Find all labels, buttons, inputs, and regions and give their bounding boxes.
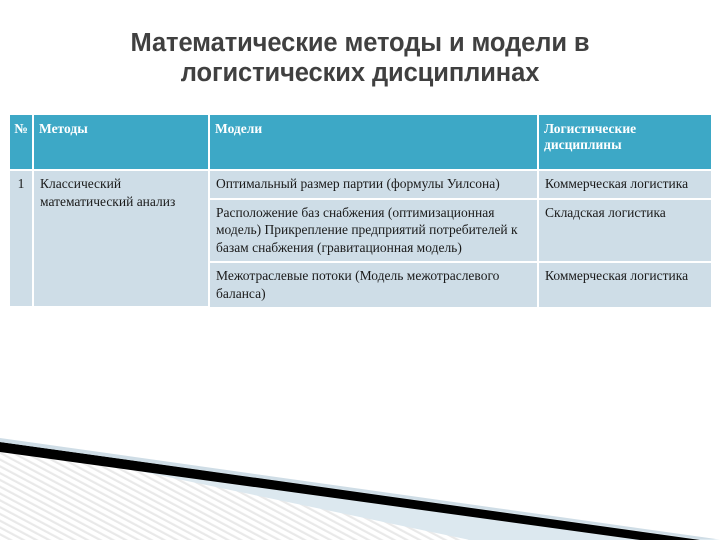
cell-discipline: Складская логистика: [538, 199, 711, 263]
column-header-models: Модели: [209, 115, 538, 170]
column-header-number: №: [10, 115, 33, 170]
page-title: Математические методы и модели в логисти…: [58, 28, 662, 88]
cell-method: Классический математический анализ: [33, 170, 209, 307]
deco-edge-line: [0, 438, 716, 539]
cell-model: Оптимальный размер партии (формулы Уилсо…: [209, 170, 538, 199]
cell-model: Межотраслевые потоки (Модель межотраслев…: [209, 262, 538, 307]
deco-blue-triangle: [0, 440, 720, 540]
slide: Математические методы и модели в логисти…: [0, 0, 720, 540]
table-container: № Методы Модели Логистические дисциплины…: [10, 115, 711, 308]
methods-models-table: № Методы Модели Логистические дисциплины…: [10, 115, 711, 308]
table-row: 1 Классический математический анализ Опт…: [10, 170, 711, 199]
column-header-disciplines: Логистические дисциплины: [538, 115, 711, 170]
column-header-methods: Методы: [33, 115, 209, 170]
deco-black-band: [0, 442, 700, 540]
slide-body-empty-area: [0, 390, 720, 450]
cell-row-number: 1: [10, 170, 33, 307]
table-header-row: № Методы Модели Логистические дисциплины: [10, 115, 711, 170]
cell-discipline: Коммерческая логистика: [538, 170, 711, 199]
table-header: № Методы Модели Логистические дисциплины: [10, 115, 711, 170]
cell-model: Расположение баз снабжения (оптимизацион…: [209, 199, 538, 263]
cell-discipline: Коммерческая логистика: [538, 262, 711, 307]
table-body: 1 Классический математический анализ Опт…: [10, 170, 711, 307]
